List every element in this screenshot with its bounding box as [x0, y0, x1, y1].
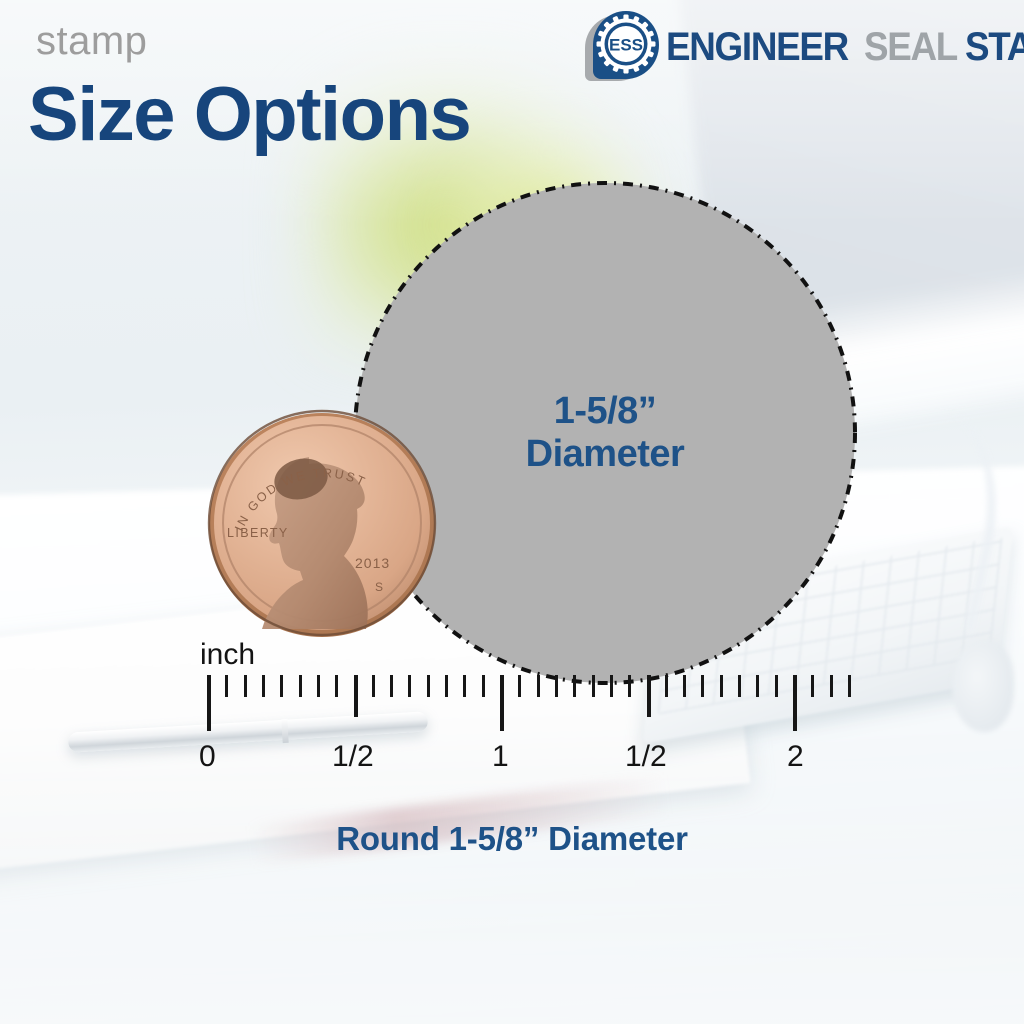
ruler-tick: [482, 675, 485, 697]
ruler-tick: [390, 675, 393, 697]
ruler-tick: [537, 675, 540, 697]
ruler-tick: [647, 675, 651, 717]
ruler-tick: [610, 675, 613, 697]
ruler-tick: [280, 675, 283, 697]
ruler-tick: [830, 675, 833, 697]
ruler-tick: [427, 675, 430, 697]
coin-mint-mark: S: [375, 580, 383, 594]
ruler-tick: [665, 675, 668, 697]
ruler-tick: [244, 675, 247, 697]
ruler-tick: [573, 675, 576, 697]
ess-badge-icon: ESS: [585, 11, 659, 83]
ruler-tick: [354, 675, 358, 717]
logo-word-seal: SEAL: [864, 27, 957, 67]
ruler-tick: [720, 675, 723, 697]
ruler-tick: [811, 675, 814, 697]
ruler-label: 2: [787, 740, 804, 774]
page-title: Size Options: [28, 77, 470, 153]
size-options-infographic: stamp Size Options: [0, 0, 1024, 1024]
ruler-tick: [518, 675, 521, 697]
ruler-tick: [317, 675, 320, 697]
logo-word-stamps: STAMPS: [965, 27, 1024, 67]
ruler-label: 1/2: [332, 740, 374, 774]
ruler-unit-label: inch: [200, 638, 255, 672]
ruler-label: 1: [492, 740, 509, 774]
ruler-tick: [335, 675, 338, 697]
ruler-tick: [500, 675, 504, 731]
ruler-tick: [775, 675, 778, 697]
ruler-tick: [463, 675, 466, 697]
ruler-tick: [683, 675, 686, 697]
caption: Round 1-5/8” Diameter: [0, 820, 1024, 858]
ruler-tick: [701, 675, 704, 697]
ruler: inch 01/211/22: [0, 630, 1024, 800]
page-kicker: stamp: [36, 21, 147, 61]
ruler-tick: [207, 675, 211, 731]
ruler-label: 1/2: [625, 740, 667, 774]
penny-coin: IN GOD WE TRUST LIBERTY 2013 S: [205, 405, 440, 640]
circle-size-line1: 1-5/8”: [554, 390, 657, 433]
ruler-tick: [299, 675, 302, 697]
ruler-tick: [445, 675, 448, 697]
logo-wordmark: ENGINEER SEAL STAMPS .COM: [666, 0, 1024, 97]
ruler-tick: [225, 675, 228, 697]
logo-word-engineer: ENGINEER: [666, 27, 848, 67]
coin-liberty: LIBERTY: [227, 526, 289, 540]
ruler-tick: [738, 675, 741, 697]
ruler-tick: [793, 675, 797, 731]
ruler-label: 0: [199, 740, 216, 774]
coin-year: 2013: [355, 555, 390, 571]
ruler-tick: [628, 675, 631, 697]
ruler-tick: [848, 675, 851, 697]
ruler-tick: [372, 675, 375, 697]
ruler-tick: [262, 675, 265, 697]
ruler-tick: [756, 675, 759, 697]
gear-icon: ESS: [593, 11, 659, 79]
brand-logo[interactable]: ESS ENGINEER SEAL STAMPS .COM: [585, 9, 1017, 85]
circle-size-line2: Diameter: [526, 433, 685, 476]
ruler-tick: [592, 675, 595, 697]
ruler-tick: [555, 675, 558, 697]
ruler-tick: [408, 675, 411, 697]
badge-label: ESS: [609, 36, 643, 55]
